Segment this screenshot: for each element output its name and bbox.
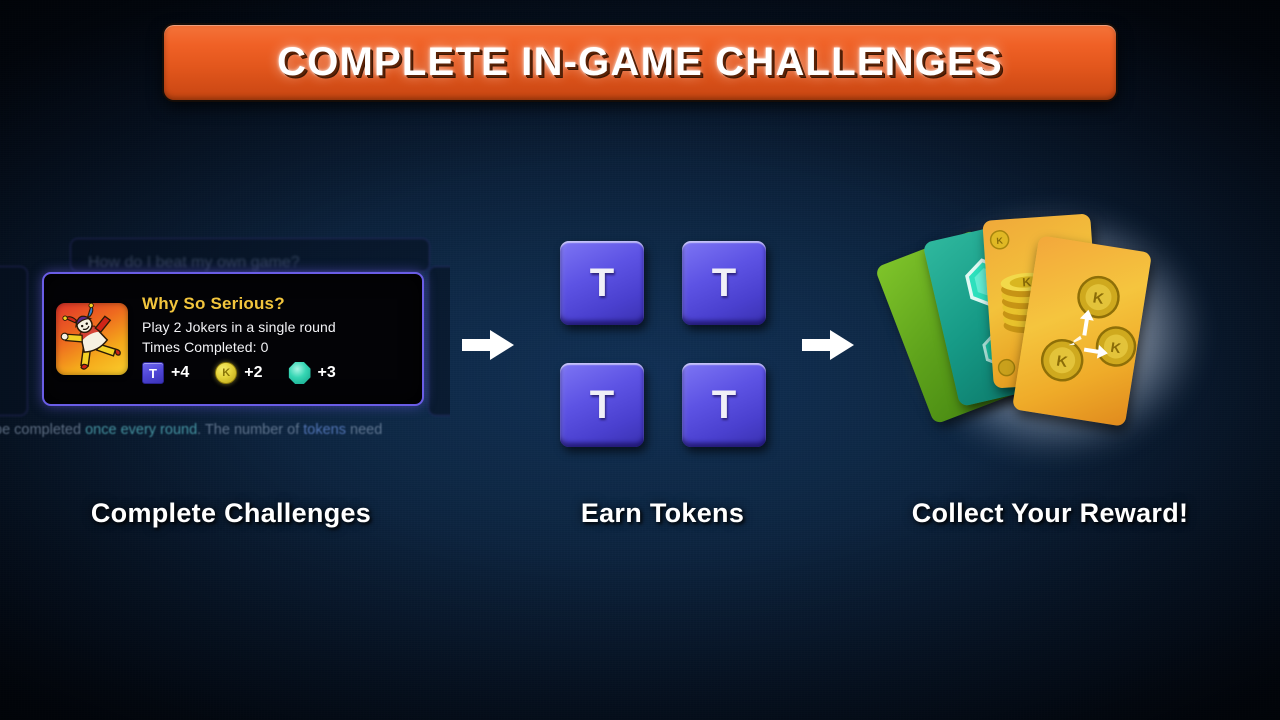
token-tile-symbol: T (590, 385, 614, 425)
step-earn-tokens: T T T T (560, 241, 770, 453)
caption-collect-reward: Collect Your Reward! (850, 498, 1250, 529)
footer-text-middle: . The number of (197, 422, 303, 438)
background-ghost-title: How do I beat my own game? (88, 254, 418, 272)
promo-screen: COMPLETE IN-GAME CHALLENGES How do I bea… (0, 0, 1280, 720)
gold-coin-symbol: K (222, 368, 230, 379)
caption-earn-tokens: Earn Tokens (500, 498, 825, 529)
arrow-step2-to-step3 (800, 328, 856, 362)
reward-coin-amount: +2 (244, 364, 262, 382)
token-tile[interactable]: T (682, 363, 766, 447)
arrow-step1-to-step2 (460, 328, 516, 362)
token-tile-symbol: T (712, 385, 736, 425)
reward-token: T +4 (142, 362, 189, 384)
step-collect-reward: K K K K K (885, 195, 1225, 470)
joker-jester-icon (56, 303, 128, 375)
background-footer-text: be completed once every round. The numbe… (0, 422, 450, 438)
svg-text:K: K (996, 236, 1004, 246)
challenge-title: Why So Serious? (142, 294, 414, 314)
token-tile[interactable]: T (560, 363, 644, 447)
background-panel-right (428, 266, 450, 416)
teal-gem-icon (289, 362, 311, 384)
step-complete-challenges: How do I beat my own game? be completed … (0, 232, 450, 454)
reward-coin: K +2 (215, 362, 262, 384)
banner-title-text: COMPLETE IN-GAME CHALLENGES (277, 40, 1003, 85)
corner-coin-icon (998, 359, 1015, 376)
reward-token-amount: +4 (171, 364, 189, 382)
challenge-rewards-row: T +4 K +2 +3 (142, 362, 414, 384)
footer-text-highlight: once every round (85, 422, 197, 438)
token-tile[interactable]: T (682, 241, 766, 325)
token-tile-symbol: T (712, 263, 736, 303)
footer-text-after: need (346, 422, 382, 438)
challenge-details: Why So Serious? Play 2 Jokers in a singl… (142, 294, 422, 384)
token-tile[interactable]: T (560, 241, 644, 325)
title-banner: COMPLETE IN-GAME CHALLENGES (164, 25, 1116, 100)
footer-text-before: be completed (0, 422, 85, 438)
challenge-description: Play 2 Jokers in a single round (142, 319, 414, 335)
gold-coin-icon: K (215, 362, 237, 384)
token-chip-symbol: T (149, 367, 157, 380)
reward-gem: +3 (289, 362, 336, 384)
footer-text-highlight-2: tokens (303, 422, 346, 438)
reward-gem-amount: +3 (318, 364, 336, 382)
token-chip-icon: T (142, 362, 164, 384)
token-tile-symbol: T (590, 263, 614, 303)
three-coins-arrows-icon: K K K (1039, 270, 1145, 391)
caption-complete-challenges: Complete Challenges (0, 498, 462, 529)
background-panel-left (0, 266, 28, 416)
challenge-card[interactable]: Why So Serious? Play 2 Jokers in a singl… (42, 272, 424, 406)
challenge-progress-label: Times Completed: 0 (142, 339, 414, 355)
